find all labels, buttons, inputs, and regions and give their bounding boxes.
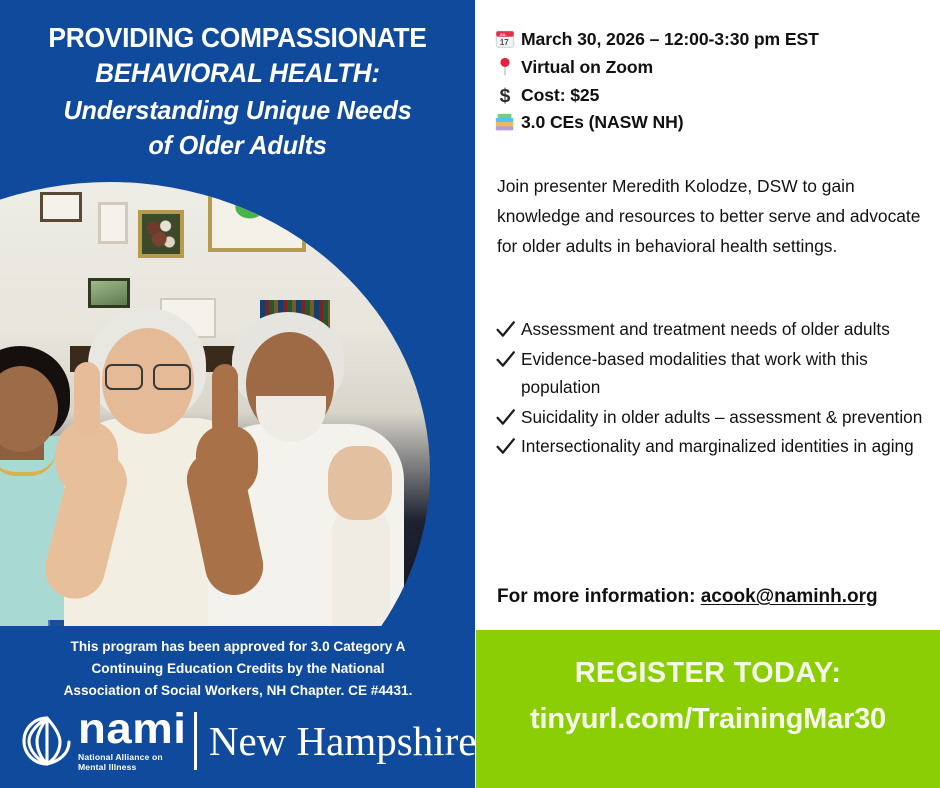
nami-new-hampshire-logo: nami National Alliance on Mental Illness… (18, 706, 468, 776)
wall-frame (138, 210, 184, 258)
check-icon (495, 407, 518, 430)
register-cta-block[interactable]: REGISTER TODAY: tinyurl.com/TrainingMar3… (476, 630, 940, 788)
title-line-1: PROVIDING COMPASSIONATE (21, 22, 454, 54)
nami-tagline: National Alliance on Mental Illness (78, 752, 180, 772)
ce-line-2: Continuing Education Credits by the Nati… (14, 658, 462, 680)
fact-label-location: Virtual on Zoom (521, 54, 653, 82)
list-item: Suicidality in older adults – assessment… (495, 404, 929, 432)
page-title: PROVIDING COMPASSIONATE BEHAVIORAL HEALT… (12, 22, 463, 163)
logo-divider (194, 712, 197, 770)
fact-row-date: JUL 17 March 30, 2026 – 12:00-3:30 pm ES… (494, 26, 934, 54)
wall-frame (208, 178, 306, 252)
hand (328, 446, 392, 520)
svg-text:$: $ (500, 85, 511, 105)
list-item-label: Assessment and treatment needs of older … (521, 316, 890, 344)
fact-label-ces: 3.0 CEs (NASW NH) (521, 109, 684, 137)
nami-name: nami (78, 710, 187, 750)
list-item: Assessment and treatment needs of older … (495, 316, 929, 344)
calendar-icon: JUL 17 (494, 28, 518, 52)
ce-approval-text: This program has been approved for 3.0 C… (14, 636, 462, 702)
list-item-label: Suicidality in older adults – assessment… (521, 404, 922, 432)
fact-label-date: March 30, 2026 – 12:00-3:30 pm EST (521, 26, 819, 54)
books-icon (494, 111, 518, 135)
dollar-sign-icon: $ (494, 84, 518, 108)
nami-wordmark: nami National Alliance on Mental Illness (78, 710, 180, 773)
title-line-4: of Older Adults (19, 128, 456, 163)
fact-row-cost: $ Cost: $25 (494, 82, 934, 110)
location-pin-icon (494, 56, 518, 80)
topic-list: Assessment and treatment needs of older … (495, 316, 929, 463)
check-icon (495, 349, 518, 372)
svg-text:JUL: JUL (500, 33, 508, 37)
contact-label: For more information: (497, 586, 695, 607)
wall-frame (98, 202, 128, 244)
title-line-2: BEHAVIORAL HEALTH: (21, 54, 454, 92)
list-item: Intersectionality and marginalized ident… (495, 433, 929, 461)
contact-line: For more information: acook@naminh.org (497, 586, 878, 608)
fact-label-cost: Cost: $25 (521, 82, 599, 110)
thumbs-up (212, 364, 238, 438)
check-icon (495, 319, 518, 342)
eyeglasses (103, 364, 193, 386)
contact-email-link[interactable]: acook@naminh.org (701, 586, 878, 607)
hero-photo (0, 150, 475, 626)
fact-row-ces: 3.0 CEs (NASW NH) (494, 109, 934, 137)
forearm (332, 506, 390, 626)
register-title: REGISTER TODAY: (575, 656, 842, 691)
list-item: Evidence-based modalities that work with… (495, 346, 929, 402)
flyer-poster: PROVIDING COMPASSIONATE BEHAVIORAL HEALT… (0, 0, 940, 788)
wall-frame (40, 192, 82, 222)
left-blue-panel: PROVIDING COMPASSIONATE BEHAVIORAL HEALT… (0, 0, 475, 788)
lead-paragraph: Join presenter Meredith Kolodze, DSW to … (497, 172, 921, 262)
nami-swirl-icon (18, 713, 76, 769)
fact-row-location: Virtual on Zoom (494, 54, 934, 82)
event-fact-list: JUL 17 March 30, 2026 – 12:00-3:30 pm ES… (494, 26, 934, 137)
hero-photo-image (0, 150, 475, 626)
wall-frame (88, 278, 130, 308)
list-item-label: Evidence-based modalities that work with… (521, 346, 929, 402)
svg-text:17: 17 (500, 38, 509, 47)
register-url[interactable]: tinyurl.com/TrainingMar30 (530, 701, 886, 739)
thumbs-up (74, 362, 100, 436)
check-icon (495, 436, 518, 459)
chapter-name: New Hampshire (209, 721, 475, 762)
title-line-3: Understanding Unique Needs (19, 93, 456, 128)
ce-line-3: Association of Social Workers, NH Chapte… (14, 680, 462, 702)
list-item-label: Intersectionality and marginalized ident… (521, 433, 914, 461)
ce-line-1: This program has been approved for 3.0 C… (14, 636, 462, 658)
